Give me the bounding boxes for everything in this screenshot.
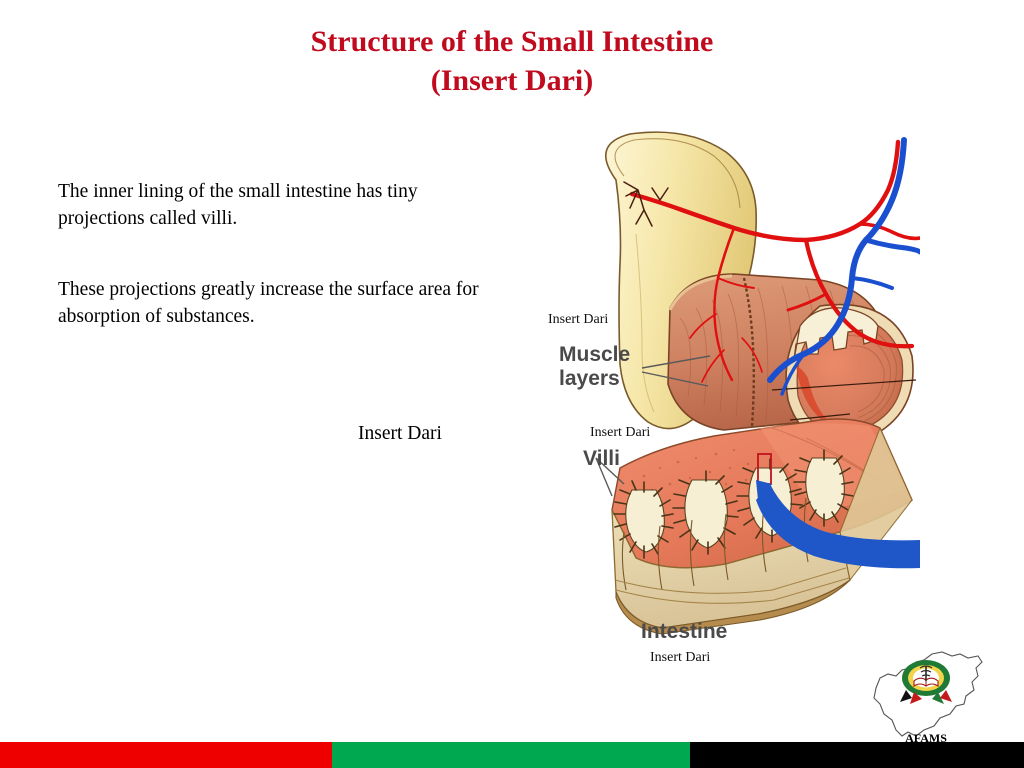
flag-band-green [332,742,690,768]
body-text-block: The inner lining of the small intestine … [58,178,488,330]
vein-branch-right [866,240,920,252]
afghan-flag-bar [0,742,1024,768]
flag-band-red [0,742,332,768]
label-muscle-line-2: layers [559,367,620,390]
villi-slab [612,419,912,634]
title-line-secondary: (Insert Dari) [0,61,1024,100]
label-insert-dari-villi: Insert Dari [590,425,650,441]
label-insert-dari-muscle: Insert Dari [548,312,608,328]
paragraph-surface-area: These projections greatly increase the s… [58,276,488,330]
label-muscle-line-1: Muscle [559,343,630,366]
paragraph-villi-definition: The inner lining of the small intestine … [58,178,488,232]
label-muscle-layers: Muscle layers [559,343,630,391]
vein-branch-mid [852,278,892,288]
page-title: Structure of the Small Intestine (Insert… [0,22,1024,100]
flag-band-black [690,742,1024,768]
insert-dari-placeholder-body: Insert Dari [358,420,442,447]
title-line-primary: Structure of the Small Intestine [0,22,1024,61]
label-villi: Villi [583,447,620,471]
label-intestine: Intestine [641,620,727,644]
label-insert-dari-intestine: Insert Dari [650,650,710,666]
